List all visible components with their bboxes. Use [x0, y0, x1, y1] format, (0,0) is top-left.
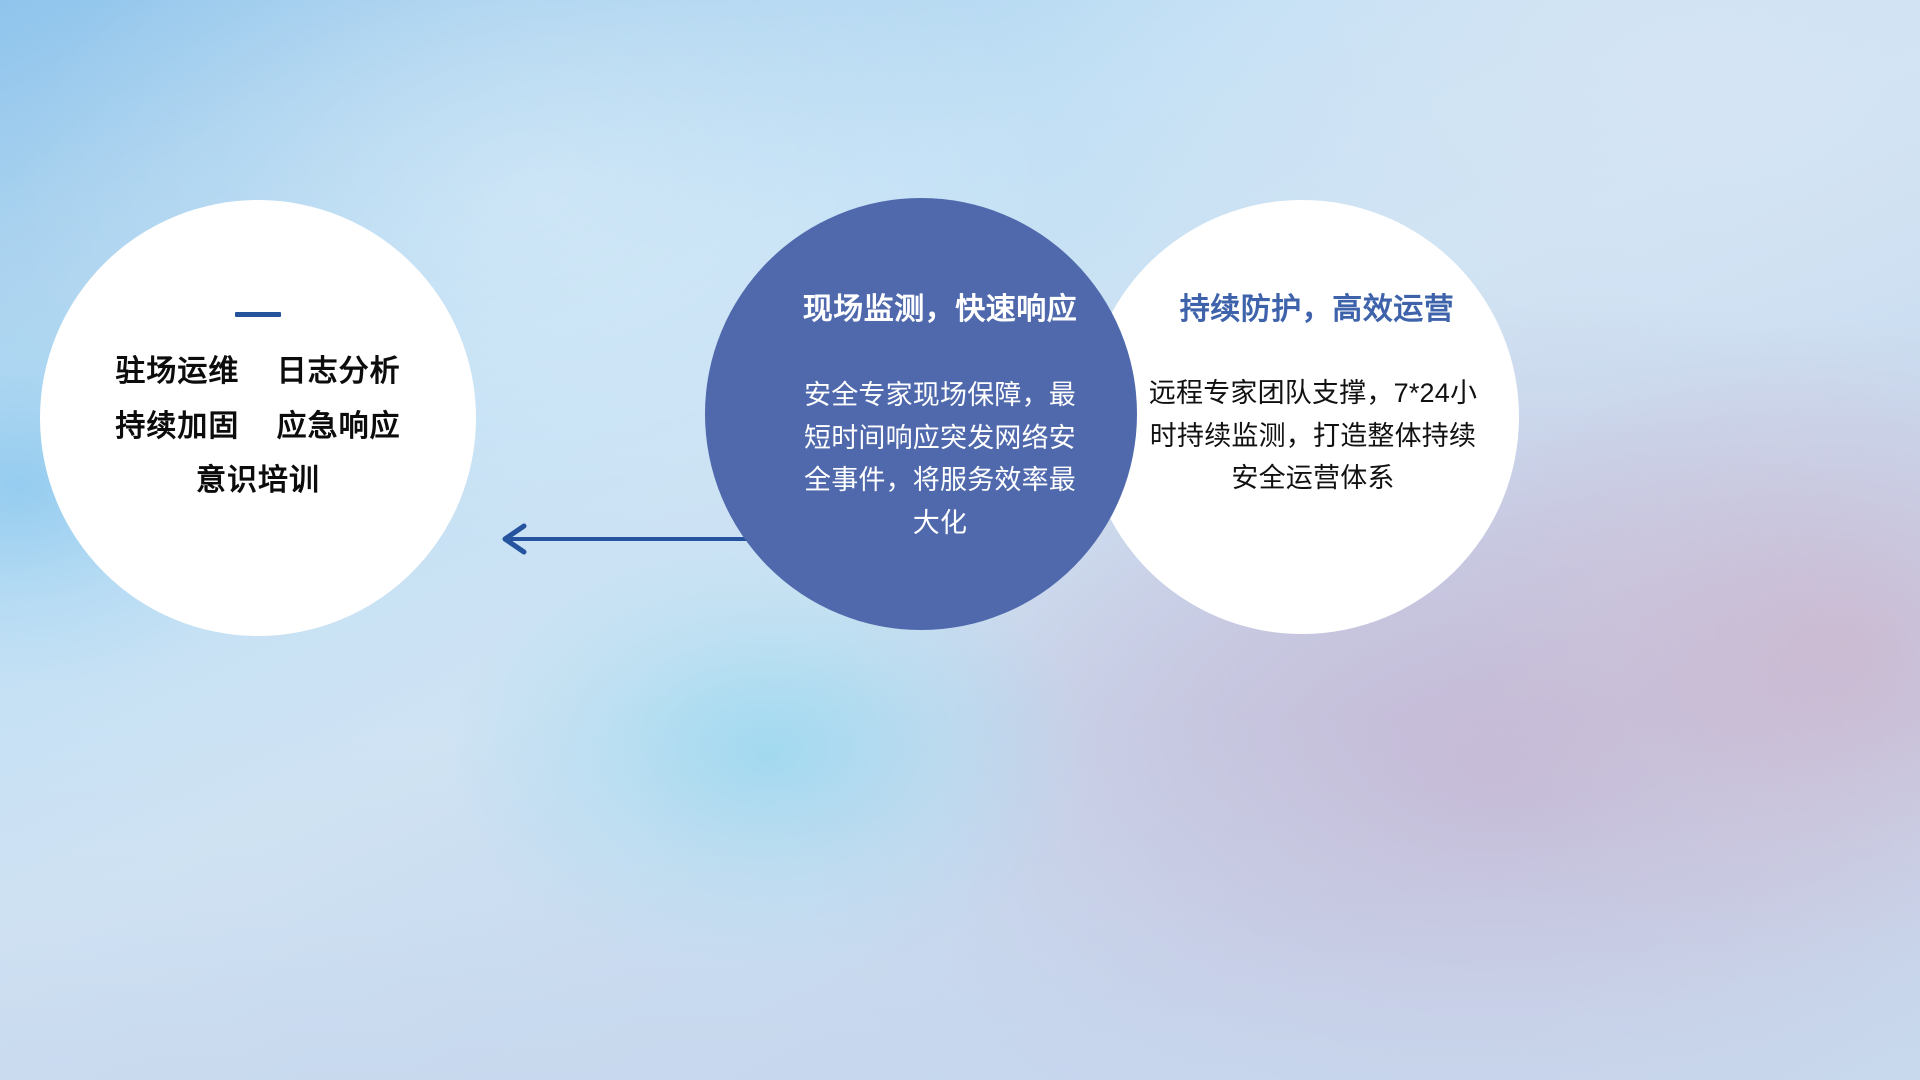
capabilities-line-2: 持续加固 应急响应 — [115, 410, 400, 444]
divider-dash-icon — [235, 312, 281, 317]
onsite-monitoring-title: 现场监测，快速响应 — [803, 292, 1078, 328]
capabilities-line-3: 意识培训 — [196, 464, 320, 498]
capabilities-line-1: 驻场运维 日志分析 — [115, 355, 400, 389]
capabilities-list: 驻场运维 日志分析 持续加固 应急响应 意识培训 — [40, 355, 476, 498]
capabilities-circle: 驻场运维 日志分析 持续加固 应急响应 意识培训 — [40, 200, 476, 636]
onsite-monitoring-body: 安全专家现场保障，最短时间响应突发网络安全事件，将服务效率最大化 — [804, 374, 1076, 545]
continuous-protection-body: 远程专家团队支撑，7*24小时持续监测，打造整体持续安全运营体系 — [1148, 372, 1478, 500]
onsite-monitoring-circle: 现场监测，快速响应 安全专家现场保障，最短时间响应突发网络安全事件，将服务效率最… — [705, 198, 1137, 630]
continuous-protection-circle: 持续防护，高效运营 远程专家团队支撑，7*24小时持续监测，打造整体持续安全运营… — [1085, 200, 1519, 634]
slide-canvas: 驻场运维 日志分析 持续加固 应急响应 意识培训 持续防护，高效运营 远程专家团… — [0, 0, 1920, 1080]
continuous-protection-title: 持续防护，高效运营 — [1180, 292, 1455, 328]
